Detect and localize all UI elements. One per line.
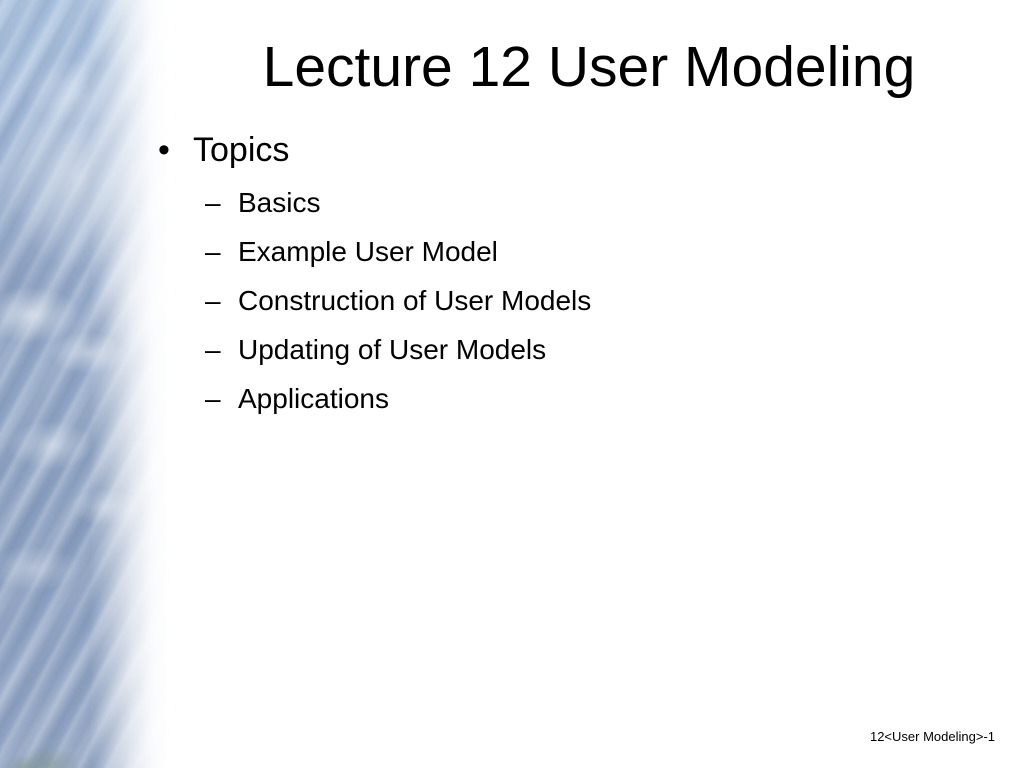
slide-footer-identifier: 12<User Modeling>-1 (870, 729, 995, 744)
decorative-mountain-image (0, 0, 170, 768)
sub-bullet-label: Updating of User Models (238, 334, 546, 365)
dash-marker-icon: – (205, 276, 221, 325)
sub-bullet-label: Construction of User Models (238, 285, 591, 316)
slide-body-content: • Topics – Basics – Example User Model –… (155, 128, 995, 423)
sub-bullet-item-example-user-model: – Example User Model (155, 227, 995, 276)
dash-marker-icon: – (205, 227, 221, 276)
sub-bullet-label: Applications (238, 383, 389, 414)
dash-marker-icon: – (205, 178, 221, 227)
sub-bullet-item-basics: – Basics (155, 178, 995, 227)
slide-title: Lecture 12 User Modeling (170, 36, 1008, 98)
sub-bullet-item-construction-of-user-models: – Construction of User Models (155, 276, 995, 325)
sub-bullet-item-applications: – Applications (155, 374, 995, 423)
dash-marker-icon: – (205, 374, 221, 423)
bullet-marker-icon: • (158, 128, 170, 172)
sub-bullet-label: Basics (238, 187, 320, 218)
bullet-item-topics: • Topics (155, 128, 995, 172)
presentation-slide: Lecture 12 User Modeling • Topics – Basi… (0, 0, 1024, 768)
sub-bullet-label: Example User Model (238, 236, 498, 267)
dash-marker-icon: – (205, 325, 221, 374)
bullet-label: Topics (193, 131, 289, 169)
sub-bullet-item-updating-of-user-models: – Updating of User Models (155, 325, 995, 374)
